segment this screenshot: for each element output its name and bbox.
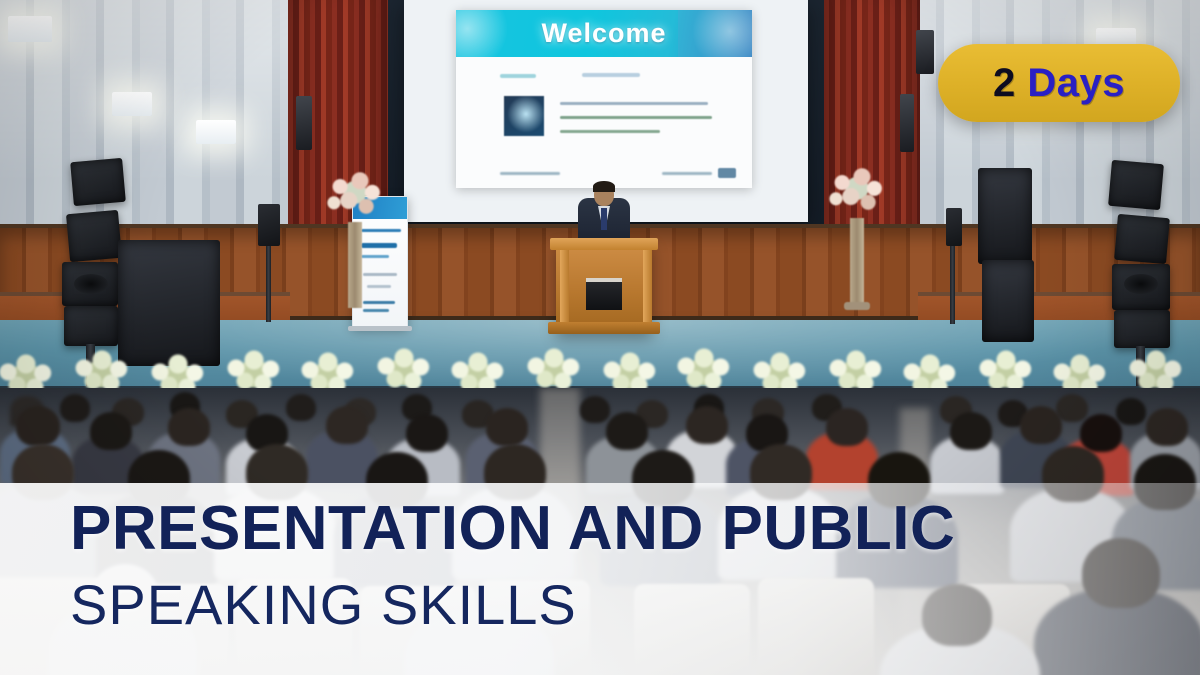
slide-footer-line — [662, 172, 712, 175]
pa-speaker-top — [70, 158, 126, 206]
pa-speaker-stand — [950, 246, 955, 324]
rollup-text-line — [363, 301, 395, 304]
floral-pedestal-stem — [348, 222, 362, 308]
podium-top-ledge — [550, 238, 658, 250]
floral-pedestal-stem — [850, 218, 864, 304]
rollup-text-line — [363, 273, 397, 276]
pa-speaker-small — [258, 204, 280, 246]
slide-footer-line — [500, 172, 560, 175]
title-line-primary: PRESENTATION AND PUBLIC — [70, 497, 1130, 560]
duration-unit: Days — [1016, 61, 1125, 105]
floral-pedestal-base — [844, 302, 870, 310]
duration-badge: 2 Days — [938, 44, 1180, 122]
slide-logo-icon — [718, 168, 736, 178]
rollup-text-line — [361, 229, 401, 232]
event-poster: Welcome — [0, 0, 1200, 675]
pa-bass-bin — [978, 168, 1032, 264]
podium-base — [548, 322, 660, 334]
rollup-text-line — [367, 285, 391, 288]
slide-heading: Welcome — [541, 18, 666, 49]
rollup-text-line — [361, 243, 397, 248]
slide-subheading-bar — [582, 73, 640, 77]
slide-banner: Welcome — [456, 10, 752, 57]
slide-subheading-bar — [500, 74, 536, 78]
floral-arrangement — [324, 168, 386, 226]
podium-column — [643, 250, 652, 324]
duration-badge-label: 2 Days — [993, 61, 1125, 106]
page-title: PRESENTATION AND PUBLIC SPEAKING SKILLS — [70, 497, 1130, 633]
podium-column — [560, 250, 569, 324]
presentation-slide: Welcome — [456, 10, 752, 188]
pa-bass-bin-lower — [982, 260, 1034, 342]
wall-sconce-icon — [8, 16, 52, 42]
podium-emblem — [586, 278, 622, 310]
rollup-text-line — [363, 309, 389, 312]
pa-speaker-top — [1108, 160, 1164, 210]
pa-speaker-mid — [66, 210, 122, 262]
pa-speaker-hanging — [900, 94, 914, 152]
floral-arrangement — [826, 164, 888, 222]
slide-thumbnail-image — [504, 96, 544, 136]
slide-body-line — [560, 116, 712, 119]
pa-speaker-horn-icon — [1124, 274, 1158, 294]
presenter-hair — [593, 181, 615, 192]
slide-body-line — [560, 130, 660, 133]
pa-speaker-hanging — [296, 96, 312, 150]
slide-body-line — [560, 102, 708, 105]
pa-speaker-stand — [266, 246, 271, 322]
pa-speaker-horn-icon — [74, 274, 108, 294]
rollup-text-line — [361, 255, 389, 258]
rollup-banner-base — [348, 326, 412, 331]
pa-speaker-small — [946, 208, 962, 246]
wall-sconce-icon — [112, 92, 152, 116]
title-line-secondary: SPEAKING SKILLS — [70, 576, 1130, 633]
pa-speaker-hanging — [916, 30, 934, 74]
pa-speaker-mid — [1114, 214, 1170, 264]
presenter-tie — [601, 208, 607, 230]
duration-number: 2 — [993, 61, 1016, 105]
wall-sconce-icon — [196, 120, 236, 144]
